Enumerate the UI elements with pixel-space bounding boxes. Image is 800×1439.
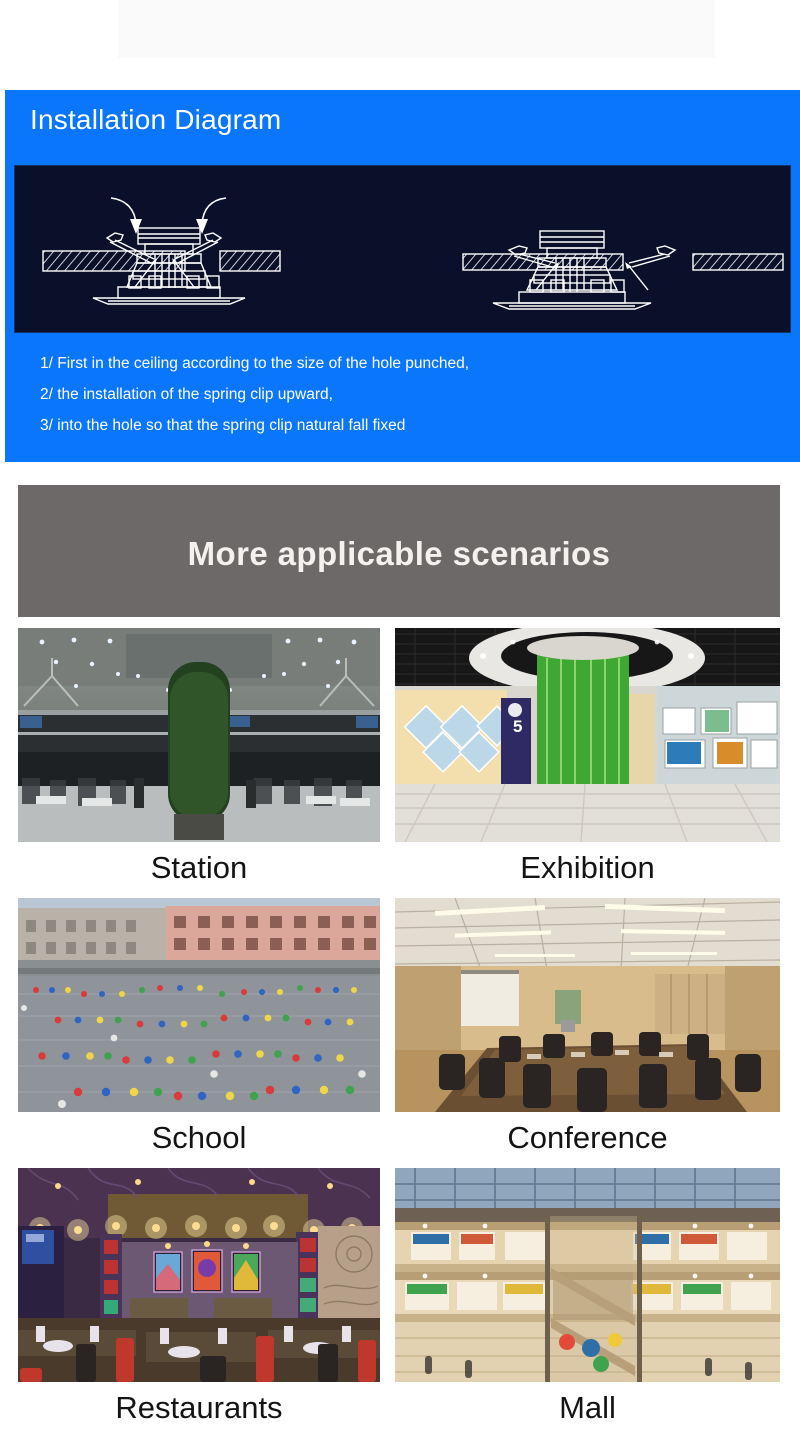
installation-step: 2/ the installation of the spring clip u… (40, 379, 790, 410)
scenario-card-station[interactable]: Station (18, 628, 380, 894)
scenario-row: School (18, 898, 780, 1164)
scenarios-header-banner: More applicable scenarios (18, 485, 780, 617)
installation-step: 3/ into the hole so that the spring clip… (40, 410, 790, 441)
conference-room-photo (395, 898, 780, 1112)
scenario-label: Conference (395, 1112, 780, 1164)
scenario-card-exhibition[interactable]: 5 (395, 628, 780, 894)
scenario-label: Mall (395, 1382, 780, 1434)
scenario-card-mall[interactable]: Mall (395, 1168, 780, 1434)
scenario-row: Station (18, 628, 780, 894)
scenario-card-conference[interactable]: Conference (395, 898, 780, 1164)
restaurant-interior-photo (18, 1168, 380, 1382)
scenario-card-school[interactable]: School (18, 898, 380, 1164)
scenario-row: Restaurants (18, 1168, 780, 1434)
scenario-card-restaurants[interactable]: Restaurants (18, 1168, 380, 1434)
installation-diagram-panel: Installation Diagram (5, 90, 800, 462)
school-playground-photo (18, 898, 380, 1112)
page-title: Installation Diagram (30, 104, 281, 136)
scenarios-grid: Station (18, 628, 780, 1438)
shopping-mall-atrium-photo (395, 1168, 780, 1382)
installation-diagram-image (14, 165, 791, 333)
scenario-label: Restaurants (18, 1382, 380, 1434)
installation-steps-list: 1/ First in the ceiling according to the… (40, 348, 790, 441)
top-sheet-fragment (118, 0, 715, 58)
scenarios-header-title: More applicable scenarios (18, 535, 780, 573)
top-white-strip (0, 0, 800, 90)
installation-step: 1/ First in the ceiling according to the… (40, 348, 790, 379)
scenario-label: Station (18, 842, 380, 894)
svg-text:5: 5 (513, 717, 522, 736)
installation-line-drawing (15, 166, 790, 332)
scenario-label: Exhibition (395, 842, 780, 894)
scenario-label: School (18, 1112, 380, 1164)
exhibition-showroom-photo: 5 (395, 628, 780, 842)
station-hall-photo (18, 628, 380, 842)
